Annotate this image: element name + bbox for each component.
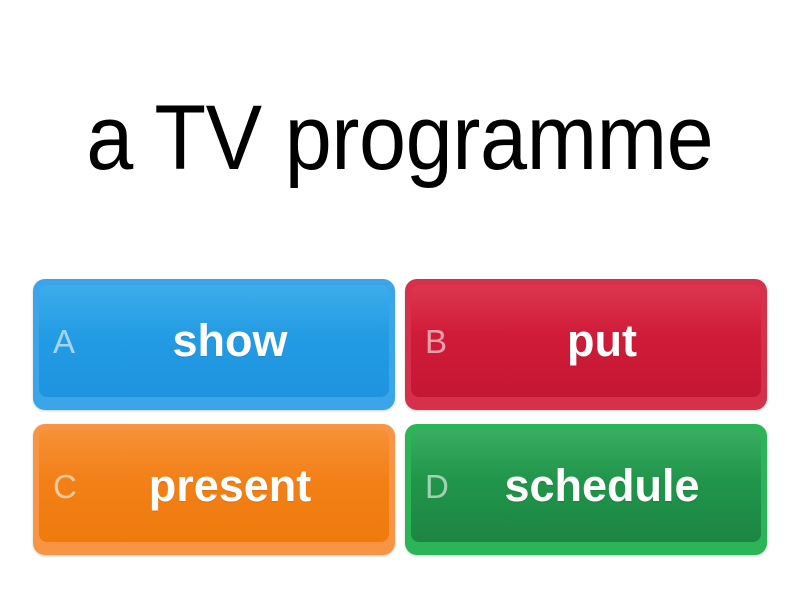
answer-option-d-letter: D: [423, 470, 467, 503]
answer-option-b-label: put: [467, 317, 751, 364]
answer-option-a[interactable]: A show: [33, 279, 395, 410]
answer-option-b-face: B put: [411, 285, 761, 397]
answer-option-a-letter: A: [51, 325, 95, 358]
answer-option-d-label: schedule: [467, 462, 751, 509]
answer-option-c-face: C present: [39, 430, 389, 542]
answer-option-d-face: D schedule: [411, 430, 761, 542]
answer-option-b-letter: B: [423, 325, 467, 358]
answer-option-c-label: present: [95, 462, 379, 509]
answer-option-c-letter: C: [51, 470, 95, 503]
quiz-screen: a TV programme A show B put C present D …: [0, 0, 800, 600]
answer-option-b[interactable]: B put: [405, 279, 767, 410]
question-text: a TV programme: [74, 89, 727, 188]
answer-options-grid: A show B put C present D schedule: [33, 279, 767, 557]
question-area: a TV programme: [0, 14, 800, 264]
answer-option-a-label: show: [95, 317, 379, 364]
answer-option-a-face: A show: [39, 285, 389, 397]
answer-option-d[interactable]: D schedule: [405, 424, 767, 555]
answer-option-c[interactable]: C present: [33, 424, 395, 555]
